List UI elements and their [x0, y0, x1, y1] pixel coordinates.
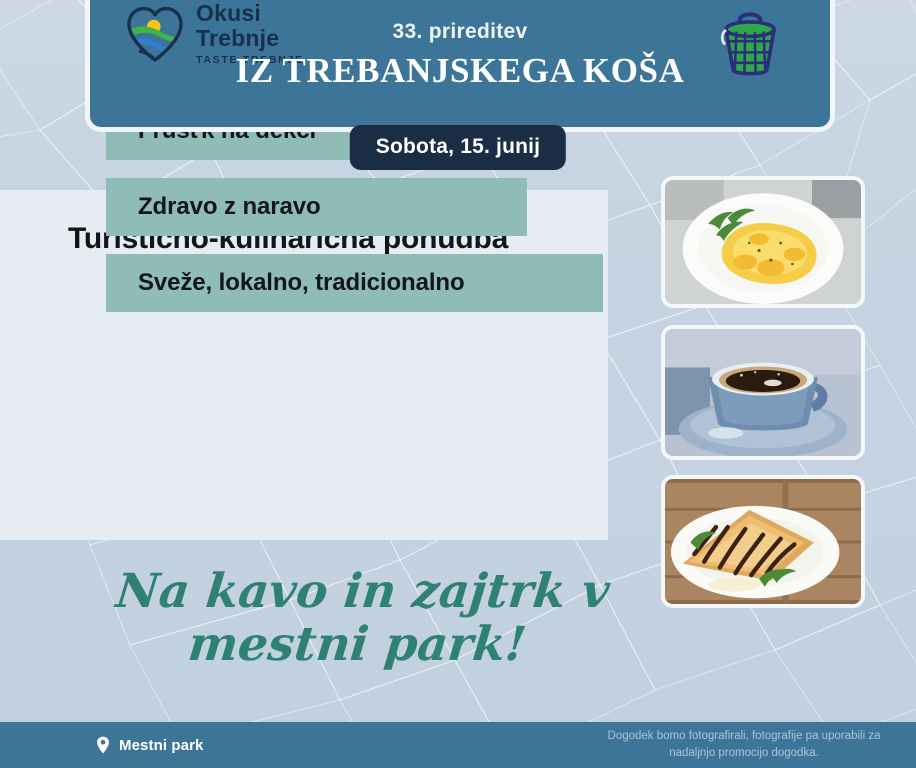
logo-wordmark: Okusi Trebnje TASTE TREBNJE — [196, 2, 304, 66]
offer-item-2: Sveže, lokalno, tradicionalno — [106, 254, 603, 312]
location-group: Mestni park — [96, 722, 203, 768]
location-label: Mestni park — [119, 737, 203, 754]
logo-line-trebnje: Trebnje — [196, 27, 304, 50]
scrambled-eggs-photo — [661, 176, 865, 308]
location-pin-icon — [96, 736, 110, 754]
offer-item-label: Zdravo z naravo — [106, 193, 321, 221]
photo-notice-line-1: Dogodek bomo fotografirali, fotografije … — [594, 728, 894, 745]
event-poster: Okusi Trebnje TASTE TREBNJE 33. priredit… — [0, 0, 916, 768]
footer-bar: Mestni park Dogodek bomo fotografirali, … — [0, 722, 916, 768]
heart-landscape-logo-icon — [124, 3, 186, 65]
event-date-badge: Sobota, 15. junij — [350, 125, 566, 170]
logo-line-taste-trebnje: TASTE TREBNJE — [196, 55, 304, 66]
header-card: Okusi Trebnje TASTE TREBNJE 33. priredit… — [85, 0, 835, 132]
woven-basket-icon — [708, 6, 792, 78]
coffee-cup-photo — [661, 325, 865, 460]
tagline-line-2: mestni park! — [90, 619, 624, 672]
photo-consent-notice: Dogodek bomo fotografirali, fotografije … — [594, 728, 894, 761]
photo-notice-line-2: nadaljnjo promocijo dogodka. — [594, 745, 894, 762]
offer-item-1: Zdravo z naravo — [106, 178, 527, 236]
tagline: Na kavo in zajtrk v mestni park! — [90, 566, 629, 671]
offer-panel: Turistično-kulinarična ponudba — [0, 190, 608, 540]
offer-item-label: Sveže, lokalno, tradicionalno — [106, 269, 465, 297]
brand-logo: Okusi Trebnje TASTE TREBNJE — [124, 2, 304, 66]
crepes-photo — [661, 475, 865, 608]
logo-line-okusi: Okusi — [196, 2, 304, 25]
tagline-line-1: Na kavo in zajtrk v — [96, 566, 630, 619]
